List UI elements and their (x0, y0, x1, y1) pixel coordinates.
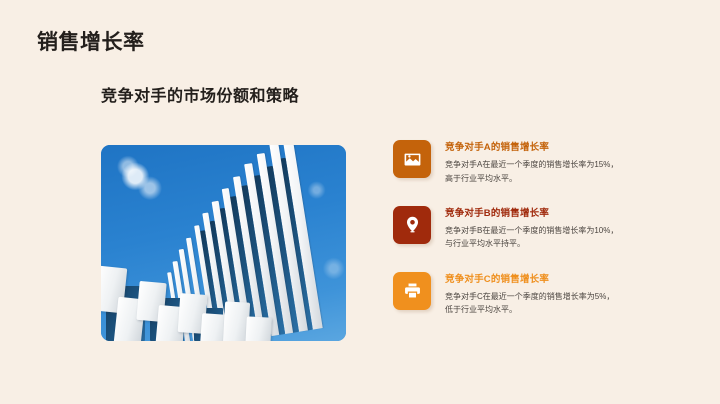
printer-icon (403, 281, 422, 300)
feature-icon-tile (393, 206, 431, 244)
slide-subtitle: 竞争对手的市场份额和策略 (101, 82, 299, 106)
feature-body: 竞争对手C在最近一个季度的销售增长率为5%，低于行业平均水平。 (445, 290, 621, 316)
list-item: 竞争对手C的销售增长率 竞争对手C在最近一个季度的销售增长率为5%，低于行业平均… (393, 272, 685, 317)
image-icon (403, 150, 422, 169)
page-title: 销售增长率 (37, 26, 145, 56)
location-pin-icon (403, 215, 422, 234)
feature-text: 竞争对手B的销售增长率 竞争对手B在最近一个季度的销售增长率为10%，与行业平均… (445, 206, 621, 251)
feature-heading: 竞争对手A的销售增长率 (445, 142, 621, 153)
slide-canvas: 销售增长率 竞争对手的市场份额和策略 (0, 0, 720, 404)
feature-text: 竞争对手A的销售增长率 竞争对手A在最近一个季度的销售增长率为15%，高于行业平… (445, 140, 621, 185)
building-photo (101, 145, 346, 341)
list-item: 竞争对手A的销售增长率 竞争对手A在最近一个季度的销售增长率为15%，高于行业平… (393, 140, 685, 185)
feature-icon-tile (393, 272, 431, 310)
feature-body: 竞争对手A在最近一个季度的销售增长率为15%，高于行业平均水平。 (445, 158, 621, 184)
feature-heading: 竞争对手C的销售增长率 (445, 274, 621, 285)
feature-icon-tile (393, 140, 431, 178)
feature-body: 竞争对手B在最近一个季度的销售增长率为10%，与行业平均水平持平。 (445, 224, 621, 250)
feature-list: 竞争对手A的销售增长率 竞争对手A在最近一个季度的销售增长率为15%，高于行业平… (393, 140, 685, 316)
facade-slab (245, 317, 271, 341)
list-item: 竞争对手B的销售增长率 竞争对手B在最近一个季度的销售增长率为10%，与行业平均… (393, 206, 685, 251)
feature-heading: 竞争对手B的销售增长率 (445, 208, 621, 219)
feature-text: 竞争对手C的销售增长率 竞争对手C在最近一个季度的销售增长率为5%，低于行业平均… (445, 272, 621, 317)
